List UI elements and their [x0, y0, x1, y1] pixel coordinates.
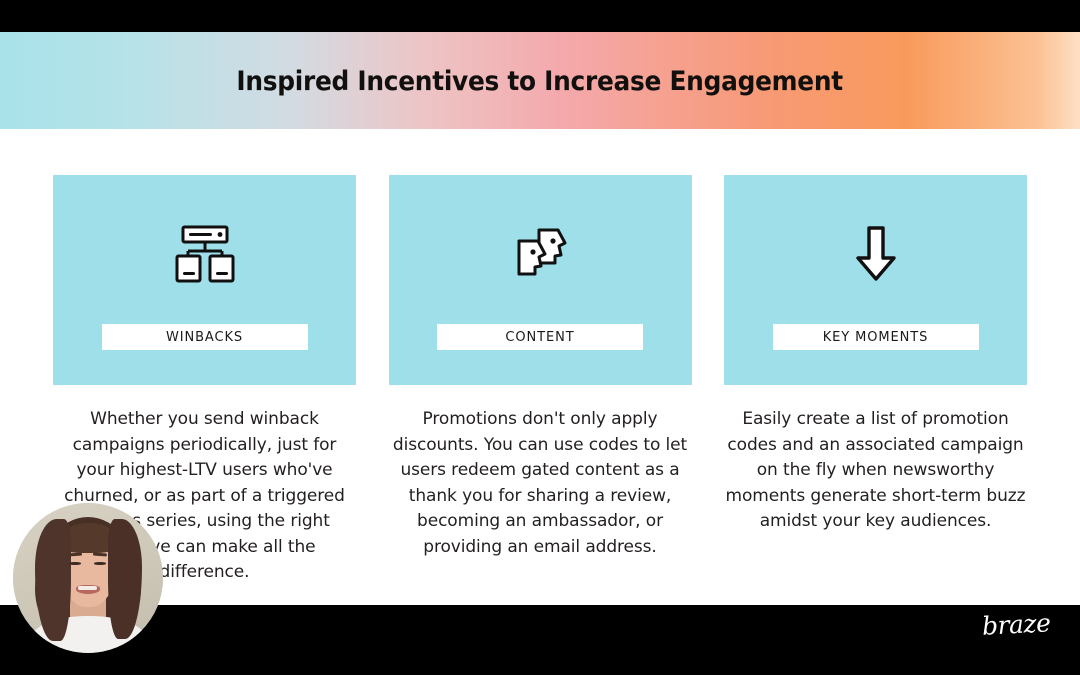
- braze-logo: braze: [981, 608, 1051, 641]
- slide-title-banner: Inspired Incentives to Increase Engageme…: [0, 32, 1080, 129]
- presentation-slide: Inspired Incentives to Increase Engageme…: [0, 0, 1080, 675]
- down-arrow-icon: [845, 223, 907, 285]
- card-description: Easily create a list of promotion codes …: [724, 407, 1027, 535]
- letterbox-bar-top: [0, 0, 1080, 32]
- feature-card-content: CONTENT Promotions don't only apply disc…: [389, 175, 692, 586]
- card-label-box: KEY MOMENTS: [773, 324, 979, 350]
- card-panel: WINBACKS: [53, 175, 356, 385]
- card-description: Promotions don't only apply discounts. Y…: [389, 407, 692, 560]
- page-title: Inspired Incentives to Increase Engageme…: [237, 66, 843, 97]
- card-label: CONTENT: [505, 330, 574, 345]
- feature-card-key-moments: KEY MOMENTS Easily create a list of prom…: [724, 175, 1027, 586]
- two-faces-profile-icon: [509, 223, 571, 285]
- presenter-eye-right: [94, 562, 106, 565]
- card-label-box: WINBACKS: [102, 324, 308, 350]
- card-label: WINBACKS: [166, 330, 243, 345]
- presenter-teeth: [78, 586, 97, 590]
- card-panel: CONTENT: [389, 175, 692, 385]
- feature-cards-row: WINBACKS Whether you send winback campai…: [53, 175, 1027, 586]
- presenter-eye-left: [69, 562, 81, 565]
- presenter-video-bubble[interactable]: [13, 503, 163, 653]
- card-panel: KEY MOMENTS: [724, 175, 1027, 385]
- presenter-hair-left: [35, 519, 71, 641]
- presenter-video-frame: [13, 503, 163, 653]
- card-label-box: CONTENT: [437, 324, 643, 350]
- card-label: KEY MOMENTS: [823, 330, 929, 345]
- sitemap-hierarchy-icon: [174, 223, 236, 285]
